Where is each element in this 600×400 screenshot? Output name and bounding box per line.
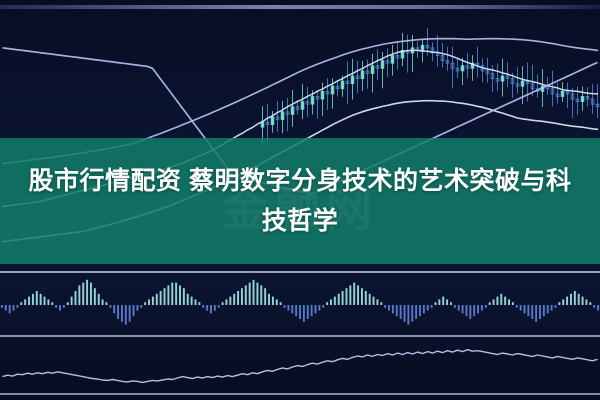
page-title-line-2: 技哲学 xyxy=(22,201,578,241)
page-title-line-1: 股市行情配资 蔡明数字分身技术的艺术突破与科 xyxy=(22,161,578,201)
title-overlay-band: 金融网 股市行情配资 蔡明数字分身技术的艺术突破与科 技哲学 xyxy=(0,138,600,264)
page-title: 股市行情配资 蔡明数字分身技术的艺术突破与科 技哲学 xyxy=(22,161,578,241)
stock-article-hero-image: 金融网 股市行情配资 蔡明数字分身技术的艺术突破与科 技哲学 xyxy=(0,0,600,400)
top-accent-bar xyxy=(0,5,600,10)
